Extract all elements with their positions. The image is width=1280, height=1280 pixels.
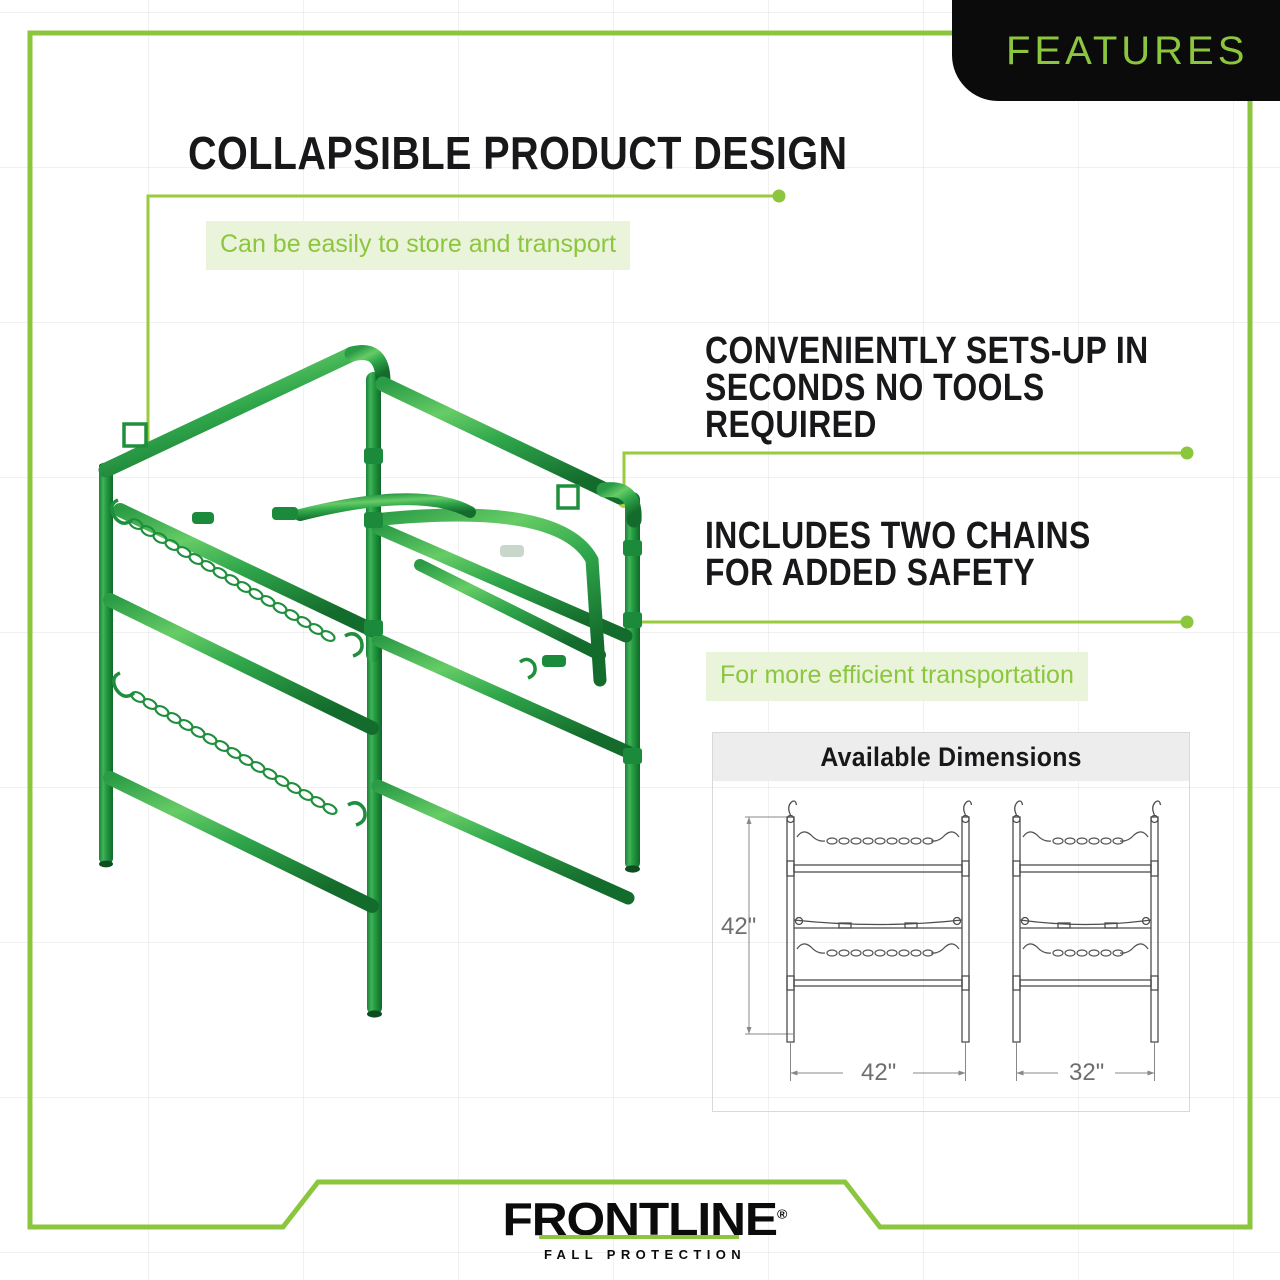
registered-trademark-icon: ®	[777, 1207, 787, 1222]
width-dimension-label-2: 32"	[1069, 1059, 1104, 1087]
connector-dot-1-end	[773, 190, 786, 203]
connector-dot-3-end	[1181, 616, 1194, 629]
dimension-drawing-32	[1013, 801, 1161, 1042]
feature-caption-3: For more efficient transportation	[706, 652, 1088, 701]
connector-dot-2-anchor	[618, 496, 630, 508]
product-top-rails	[106, 352, 634, 680]
brand-underline-bar	[540, 1235, 739, 1239]
height-dimension-label: 42"	[721, 913, 756, 941]
product-legs	[99, 372, 640, 1018]
feature-heading-1: COLLAPSIBLE PRODUCT DESIGN	[188, 131, 848, 176]
width-dimension-label-1: 42"	[861, 1059, 896, 1087]
available-dimensions-panel: Available Dimensions	[712, 732, 1190, 1112]
feature-heading-3: INCLUDES TWO CHAINS FOR ADDED SAFETY	[705, 518, 1091, 592]
dimensions-panel-header: Available Dimensions	[713, 733, 1189, 781]
brand-wordmark: FRONTLINE®	[503, 1196, 788, 1242]
dimensions-panel-title: Available Dimensions	[820, 742, 1081, 773]
features-tab: FEATURES	[952, 0, 1280, 101]
connector-dot-1-anchor	[142, 443, 154, 455]
feature-heading-2: CONVENIENTLY SETS-UP IN SECONDS NO TOOLS…	[705, 333, 1188, 445]
dimensions-drawings: 42" 42" 32"	[713, 781, 1189, 1113]
connector-dot-2-end	[1181, 447, 1194, 460]
brand-logo: FRONTLINE® FALL PROTECTION	[500, 1196, 790, 1262]
product-couplers	[192, 448, 642, 764]
infographic-canvas: FEATURES COLLAPSIBLE PRODUCT DESIGN CONV…	[0, 0, 1280, 1280]
features-tab-label: FEATURES	[1006, 31, 1248, 71]
product-chain-upper	[128, 517, 338, 643]
product-chain-lower	[130, 690, 338, 816]
feature-caption-1: Can be easily to store and transport	[206, 221, 630, 270]
connector-line-2	[624, 453, 1186, 503]
brand-tagline: FALL PROTECTION	[500, 1247, 790, 1262]
dimension-drawing-42	[787, 801, 972, 1042]
connector-dot-3-anchor	[626, 616, 638, 628]
product-hooks	[112, 424, 578, 825]
product-cross-rails	[110, 565, 628, 906]
